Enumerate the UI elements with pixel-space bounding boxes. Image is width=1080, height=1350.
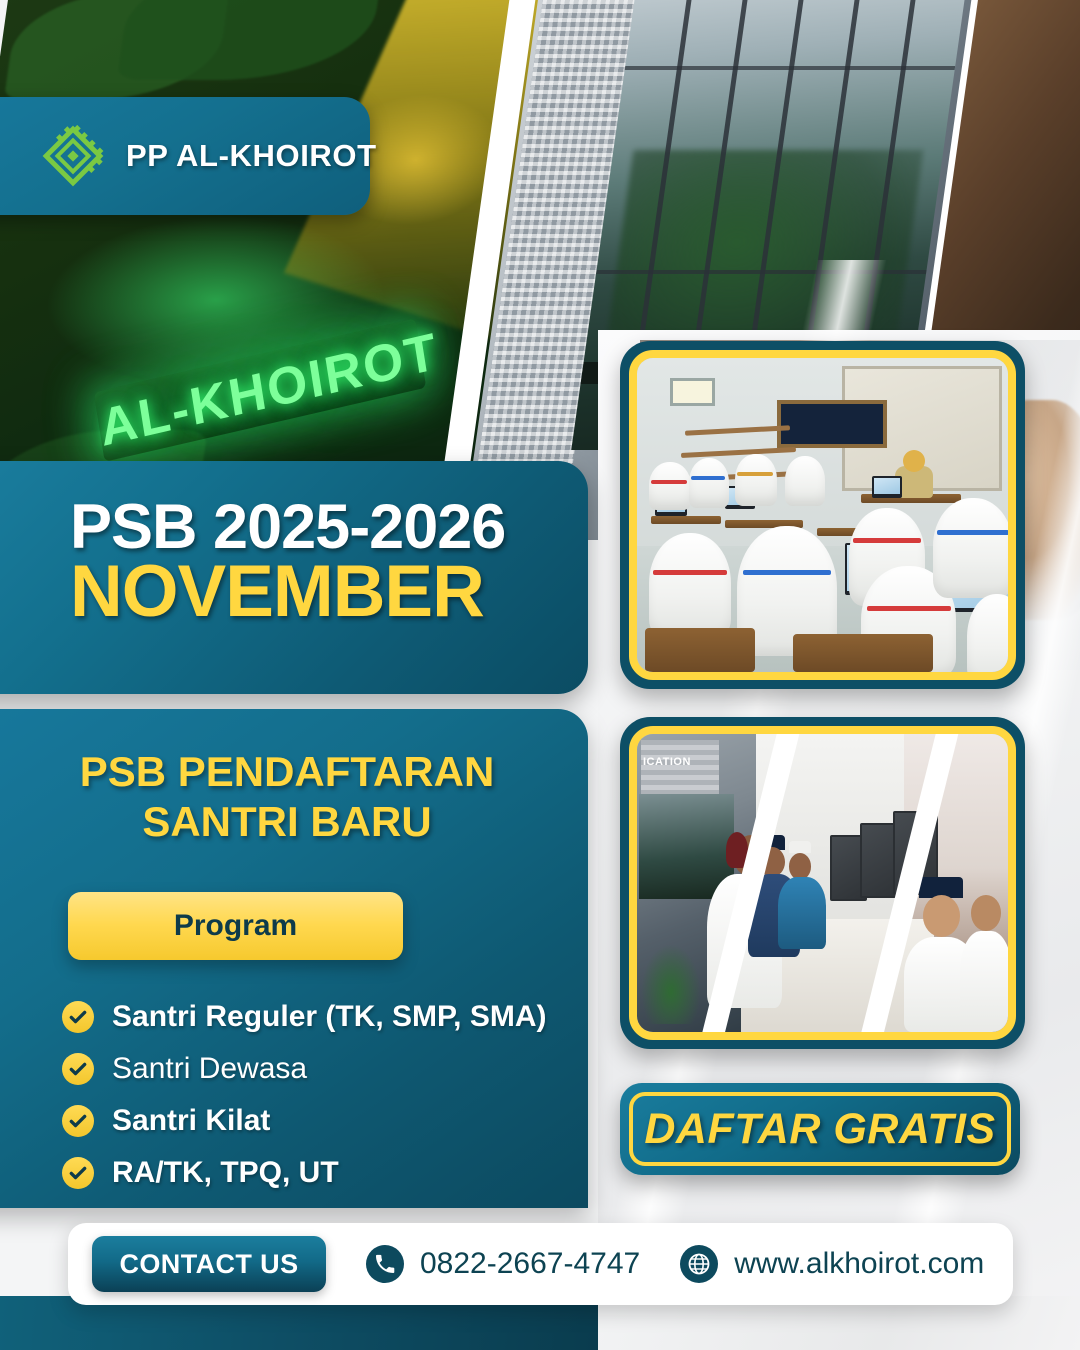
program-pill: Program bbox=[68, 892, 403, 960]
program-panel: PSB PENDAFTARAN SANTRI BARU Program Sant… bbox=[0, 709, 588, 1208]
list-item-label: RA/TK, TPQ, UT bbox=[112, 1156, 339, 1190]
program-heading-line2: SANTRI BARU bbox=[0, 797, 574, 847]
title-panel: PSB 2025-2026 NOVEMBER bbox=[0, 461, 588, 694]
contact-website[interactable]: www.alkhoirot.com bbox=[680, 1245, 984, 1283]
brand-logo-chip: PP AL-KHOIROT bbox=[0, 97, 370, 215]
kufic-diamond-logo-icon bbox=[42, 125, 104, 187]
program-heading-line1: PSB PENDAFTARAN bbox=[0, 747, 574, 797]
website-url: www.alkhoirot.com bbox=[734, 1247, 984, 1281]
photo-lab-image: ICATION bbox=[629, 726, 1016, 1040]
brand-name: PP AL-KHOIROT bbox=[126, 138, 377, 174]
list-item-label: Santri Dewasa bbox=[112, 1052, 307, 1086]
contact-us-button[interactable]: CONTACT US bbox=[92, 1236, 326, 1292]
contact-bar: CONTACT US 0822-2667-4747 www.alkhoirot.… bbox=[68, 1223, 1013, 1305]
globe-icon bbox=[680, 1245, 718, 1283]
phone-number: 0822-2667-4747 bbox=[420, 1247, 640, 1281]
program-pill-label: Program bbox=[174, 909, 297, 943]
daftar-gratis-border: DAFTAR GRATIS bbox=[629, 1092, 1011, 1166]
program-heading: PSB PENDAFTARAN SANTRI BARU bbox=[0, 747, 588, 846]
daftar-gratis-button[interactable]: DAFTAR GRATIS bbox=[620, 1083, 1020, 1175]
contact-phone[interactable]: 0822-2667-4747 bbox=[366, 1245, 640, 1283]
list-item-label: Santri Reguler (TK, SMP, SMA) bbox=[112, 1000, 547, 1034]
program-list: Santri Reguler (TK, SMP, SMA) Santri Dew… bbox=[62, 1000, 588, 1190]
list-item: RA/TK, TPQ, UT bbox=[62, 1156, 588, 1190]
daftar-gratis-label: DAFTAR GRATIS bbox=[644, 1105, 995, 1154]
contact-us-label: CONTACT US bbox=[120, 1249, 299, 1280]
title-line-november: NOVEMBER bbox=[70, 555, 588, 629]
photo-classroom-image bbox=[629, 350, 1016, 680]
check-circle-icon bbox=[62, 1053, 94, 1085]
phone-icon bbox=[366, 1245, 404, 1283]
check-circle-icon bbox=[62, 1157, 94, 1189]
check-circle-icon bbox=[62, 1105, 94, 1137]
check-circle-icon bbox=[62, 1001, 94, 1033]
list-item: Santri Kilat bbox=[62, 1104, 588, 1138]
photo-card-classroom bbox=[620, 341, 1025, 689]
list-item-label: Santri Kilat bbox=[112, 1104, 270, 1138]
photo-card-computer-lab: ICATION bbox=[620, 717, 1025, 1049]
title-line-psb: PSB 2025-2026 bbox=[70, 495, 588, 559]
list-item: Santri Dewasa bbox=[62, 1052, 588, 1086]
list-item: Santri Reguler (TK, SMP, SMA) bbox=[62, 1000, 588, 1034]
poster-root: AL-KHOIROT bbox=[0, 0, 1080, 1350]
